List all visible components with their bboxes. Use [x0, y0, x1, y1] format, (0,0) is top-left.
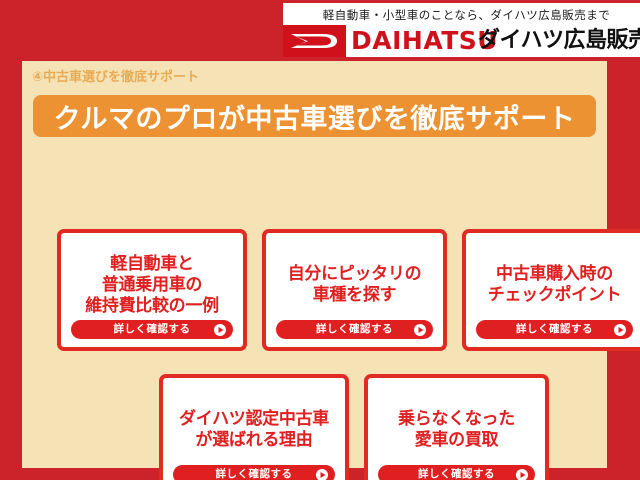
play-circle-icon	[614, 324, 626, 336]
details-button-label: 詳しく確認する	[276, 320, 433, 339]
daihatsu-d-emblem-icon	[283, 25, 346, 57]
page-title: クルマのプロが中古車選びを徹底サポート	[33, 95, 596, 137]
play-circle-icon	[414, 324, 426, 336]
card-find-your-model[interactable]: 自分にピッタリの車種を探す詳しく確認する	[262, 229, 447, 351]
brand-dealer-name: ダイハツ広島販売	[478, 26, 640, 56]
section-label: ④中古車選びを徹底サポート	[32, 69, 199, 86]
details-button-label: 詳しく確認する	[71, 320, 233, 339]
details-button-label: 詳しく確認する	[173, 465, 335, 480]
card-title-line: 軽自動車と	[61, 254, 243, 275]
details-button-label: 詳しく確認する	[476, 320, 633, 339]
details-button[interactable]: 詳しく確認する	[476, 320, 633, 339]
details-button[interactable]: 詳しく確認する	[378, 465, 535, 480]
card-title: 中古車購入時のチェックポイント	[466, 264, 640, 306]
card-title-line: 維持費比較の一例	[61, 296, 243, 317]
card-title-line: チェックポイント	[466, 285, 640, 306]
card-car-buyback[interactable]: 乗らなくなった愛車の買取詳しく確認する	[364, 374, 549, 480]
brand-logo-row: DAIHATSU ダイハツ広島販売	[283, 25, 640, 57]
card-title: 自分にピッタリの車種を探す	[266, 264, 443, 306]
card-title-line: 愛車の買取	[368, 430, 545, 451]
details-button[interactable]: 詳しく確認する	[173, 465, 335, 480]
card-title: 軽自動車と普通乗用車の維持費比較の一例	[61, 254, 243, 317]
card-title-line: 乗らなくなった	[368, 409, 545, 430]
card-used-car-checkpoints[interactable]: 中古車購入時のチェックポイント詳しく確認する	[462, 229, 640, 351]
details-button[interactable]: 詳しく確認する	[71, 320, 233, 339]
play-circle-icon	[516, 469, 528, 480]
card-title: 乗らなくなった愛車の買取	[368, 409, 545, 451]
card-title-line: ダイハツ認定中古車	[163, 409, 345, 430]
card-title-line: が選ばれる理由	[163, 430, 345, 451]
card-title-line: 中古車購入時の	[466, 264, 640, 285]
page-root: 軽自動車・小型車のことなら、ダイハツ広島販売まで DAIHATSU ダイハツ広島…	[0, 0, 640, 480]
brand-wordmark: DAIHATSU	[351, 25, 498, 57]
brand-tagline: 軽自動車・小型車のことなら、ダイハツ広島販売まで	[293, 5, 640, 25]
card-title-line: 普通乗用車の	[61, 275, 243, 296]
play-circle-icon	[214, 324, 226, 336]
card-title-line: 自分にピッタリの	[266, 264, 443, 285]
card-title-line: 車種を探す	[266, 285, 443, 306]
details-button[interactable]: 詳しく確認する	[276, 320, 433, 339]
brand-header: 軽自動車・小型車のことなら、ダイハツ広島販売まで DAIHATSU ダイハツ広島…	[283, 3, 640, 57]
card-title: ダイハツ認定中古車が選ばれる理由	[163, 409, 345, 451]
details-button-label: 詳しく確認する	[378, 465, 535, 480]
content-panel: ④中古車選びを徹底サポート クルマのプロが中古車選びを徹底サポート 軽自動車と普…	[22, 61, 607, 468]
play-circle-icon	[316, 469, 328, 480]
card-certified-used-car-reasons[interactable]: ダイハツ認定中古車が選ばれる理由詳しく確認する	[159, 374, 349, 480]
card-maintenance-cost-comparison[interactable]: 軽自動車と普通乗用車の維持費比較の一例詳しく確認する	[57, 229, 247, 351]
